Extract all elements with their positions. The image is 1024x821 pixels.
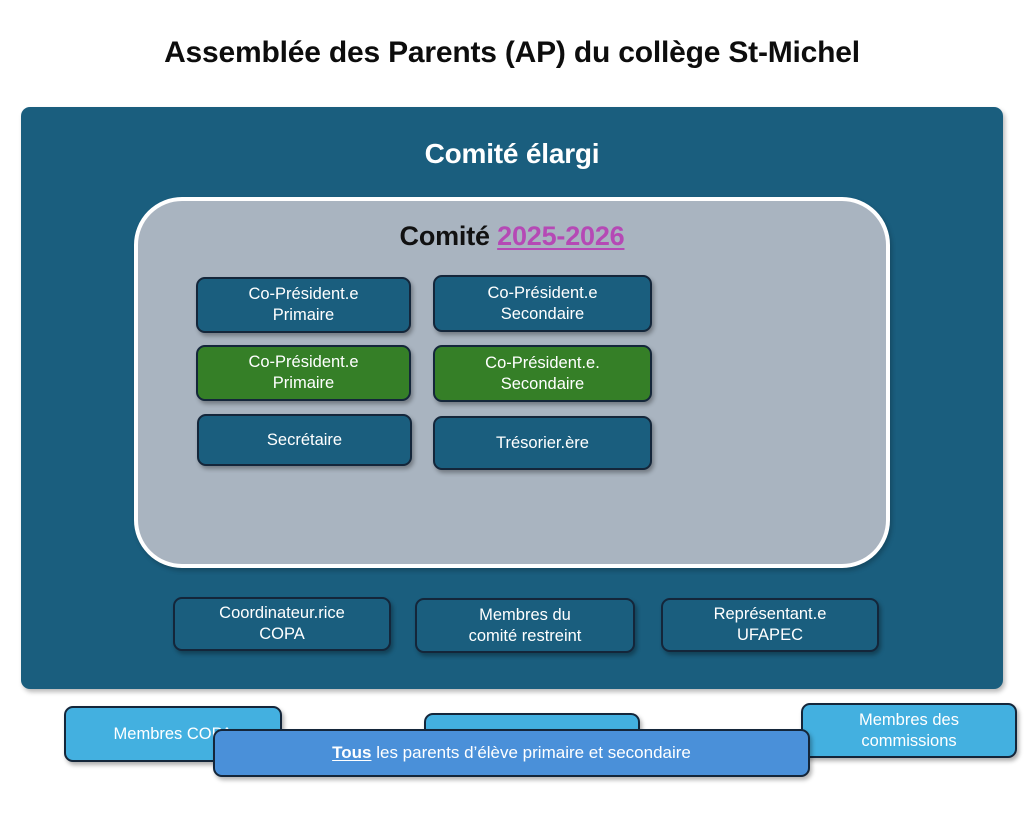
role-line-1: Co-Président.e [487, 284, 597, 302]
org-chart-page: { "page": { "title": "Assemblée des Pare… [0, 0, 1024, 821]
role-box-copresident-primaire-2[interactable]: Co-Président.e Primaire [196, 345, 411, 401]
role-line-2: comité restreint [469, 627, 582, 645]
role-line-1: Co-Président.e [248, 353, 358, 371]
role-line-2: Secondaire [501, 305, 584, 323]
role-line-1: Co-Président.e [248, 285, 358, 303]
role-box-representant-ufapec[interactable]: Représentant.e UFAPEC [661, 598, 879, 652]
role-box-membres-comite-restreint[interactable]: Membres du comité restreint [415, 598, 635, 653]
comite-label: Comité [400, 221, 498, 251]
role-line-2: UFAPEC [737, 626, 803, 644]
role-box-secretaire[interactable]: Secrétaire [197, 414, 412, 466]
role-box-text: Co-Président.e. Secondaire [485, 353, 600, 395]
role-box-coordinateur-copa[interactable]: Coordinateur.rice COPA [173, 597, 391, 651]
member-box-text: Membres des commissions [859, 710, 959, 752]
member-line-1: Membres des [859, 711, 959, 729]
role-box-copresident-secondaire-1[interactable]: Co-Président.e Secondaire [433, 275, 652, 332]
comite-elargi-panel: Comité élargi Comité 2025-2026 Co-Présid… [21, 107, 1003, 689]
role-box-text: Co-Président.e Secondaire [487, 283, 597, 325]
member-box-membres-commissions[interactable]: Membres des commissions [801, 703, 1017, 758]
role-box-tresorier[interactable]: Trésorier.ère [433, 416, 652, 470]
role-line-2: Secondaire [501, 375, 584, 393]
role-line-2: Primaire [273, 374, 334, 392]
role-line-1: Coordinateur.rice [219, 604, 345, 622]
all-parents-text: Tous les parents d’élève primaire et sec… [332, 743, 691, 763]
role-box-copresident-primaire-1[interactable]: Co-Président.e Primaire [196, 277, 411, 333]
role-line-1: Trésorier.ère [496, 433, 589, 454]
role-box-text: Représentant.e UFAPEC [714, 604, 827, 646]
role-box-text: Coordinateur.rice COPA [219, 603, 345, 645]
member-line-2: commissions [861, 732, 956, 750]
comite-elargi-title: Comité élargi [21, 138, 1003, 170]
all-parents-emphasis: Tous [332, 743, 371, 762]
role-line-1: Membres du [479, 606, 571, 624]
comite-year: 2025-2026 [497, 221, 624, 251]
comite-year-title: Comité 2025-2026 [138, 221, 886, 252]
role-line-1: Représentant.e [714, 605, 827, 623]
all-parents-rest: les parents d’élève primaire et secondai… [371, 743, 690, 762]
role-box-text: Membres du comité restreint [469, 605, 582, 647]
role-box-copresident-secondaire-2[interactable]: Co-Président.e. Secondaire [433, 345, 652, 402]
role-box-text: Co-Président.e Primaire [248, 352, 358, 394]
role-line-2: Primaire [273, 306, 334, 324]
role-line-2: COPA [259, 625, 305, 643]
role-box-text: Co-Président.e Primaire [248, 284, 358, 326]
role-line-1: Secrétaire [267, 430, 342, 451]
all-parents-bar[interactable]: Tous les parents d’élève primaire et sec… [213, 729, 810, 777]
role-line-1: Co-Président.e. [485, 354, 600, 372]
page-title: Assemblée des Parents (AP) du collège St… [0, 36, 1024, 70]
